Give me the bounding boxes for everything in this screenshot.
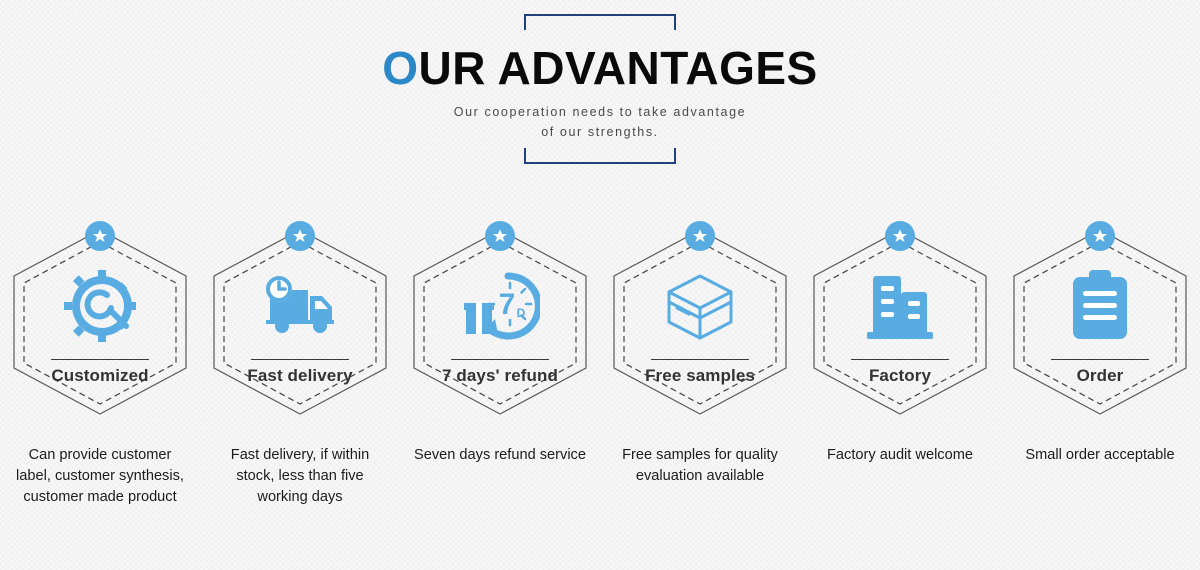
page-subtitle: Our cooperation needs to take advantage … [0, 103, 1200, 142]
hexagon-badge: Order [1007, 222, 1193, 418]
advantage-label: 7 days' refund [407, 366, 593, 386]
page-title: OUR ADVANTAGES [0, 44, 1200, 92]
bracket-bottom-decoration [524, 148, 676, 164]
advantage-label: Free samples [607, 366, 793, 386]
star-badge-icon [1085, 221, 1115, 251]
delivery-truck-clock-icon [207, 260, 393, 352]
label-rule [851, 359, 949, 360]
bracket-top-decoration [524, 14, 676, 30]
star-badge-icon [685, 221, 715, 251]
advantage-description: Small order acceptable [1000, 445, 1200, 508]
hexagon-badge: Free samples [607, 222, 793, 418]
advantage-card-refund[interactable]: 7 D 7 days' refund [400, 222, 600, 418]
advantage-label: Factory [807, 366, 993, 386]
label-rule [651, 359, 749, 360]
advantage-label: Customized [7, 366, 193, 386]
page-title-accent-letter: O [382, 42, 418, 94]
star-badge-icon [285, 221, 315, 251]
gear-magnifier-icon [7, 260, 193, 352]
package-box-outline-icon [607, 260, 793, 352]
label-rule [251, 359, 349, 360]
factory-building-icon [807, 260, 993, 352]
svg-text:D: D [517, 306, 526, 320]
page-header: OUR ADVANTAGES Our cooperation needs to … [0, 0, 1200, 164]
star-badge-icon [485, 221, 515, 251]
advantage-card-free-samples[interactable]: Free samples [600, 222, 800, 418]
advantage-card-order[interactable]: Order [1000, 222, 1200, 418]
svg-text:7: 7 [499, 288, 516, 321]
seven-day-return-gift-icon: 7 D [407, 260, 593, 352]
star-badge-icon [85, 221, 115, 251]
hexagon-badge: Factory [807, 222, 993, 418]
label-rule [451, 359, 549, 360]
advantage-card-factory[interactable]: Factory [800, 222, 1000, 418]
advantage-card-fast-delivery[interactable]: Fast delivery [200, 222, 400, 418]
star-badge-icon [885, 221, 915, 251]
hexagon-badge: Customized [7, 222, 193, 418]
advantage-label: Order [1007, 366, 1193, 386]
advantage-description: Factory audit welcome [800, 445, 1000, 508]
hexagon-badge: 7 D 7 days' refund [407, 222, 593, 418]
advantage-label: Fast delivery [207, 366, 393, 386]
label-rule [51, 359, 149, 360]
advantage-description: Free samples for quality evaluation avai… [600, 445, 800, 508]
page-title-rest: UR ADVANTAGES [419, 42, 818, 94]
hexagon-badge: Fast delivery [207, 222, 393, 418]
advantage-card-customized[interactable]: Customized [0, 222, 200, 418]
label-rule [1051, 359, 1149, 360]
advantage-description: Fast delivery, if within stock, less tha… [200, 445, 400, 508]
advantages-card-row: Customized [0, 222, 1200, 418]
advantage-description: Seven days refund service [400, 445, 600, 508]
advantage-description: Can provide customer label, customer syn… [0, 445, 200, 508]
clipboard-order-icon [1007, 260, 1193, 352]
advantage-description-row: Can provide customer label, customer syn… [0, 445, 1200, 508]
